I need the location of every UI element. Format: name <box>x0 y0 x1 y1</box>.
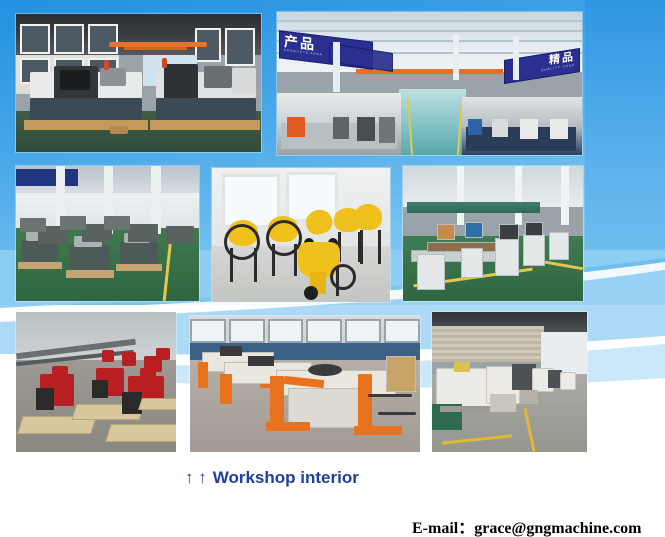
photo-cnc-row-grey-floor <box>432 312 587 452</box>
photo-factory-hall-banners: 产品 PRODUCTS AREA 精品 QUALITY ZONE <box>277 12 582 155</box>
photo-orange-woodworking-machines <box>190 316 420 452</box>
photo-red-machines-pallets <box>16 312 176 452</box>
contact-email[interactable]: E-mail：grace@gngmachine.com <box>412 514 642 537</box>
workshop-caption-text: Workshop interior <box>213 468 359 487</box>
slide-root: 产品 PRODUCTS AREA 精品 QUALITY ZONE <box>0 0 665 537</box>
up-arrow-icon: ↑ ↑ <box>185 468 207 488</box>
photo-yellow-concrete-mixers <box>212 168 390 302</box>
photo-assembly-line-canopy <box>403 166 583 301</box>
photo-cnc-lathes-pallets <box>16 14 261 152</box>
photo-grey-machines-green-floor <box>16 166 199 301</box>
workshop-caption: ↑ ↑Workshop interior <box>185 468 359 488</box>
